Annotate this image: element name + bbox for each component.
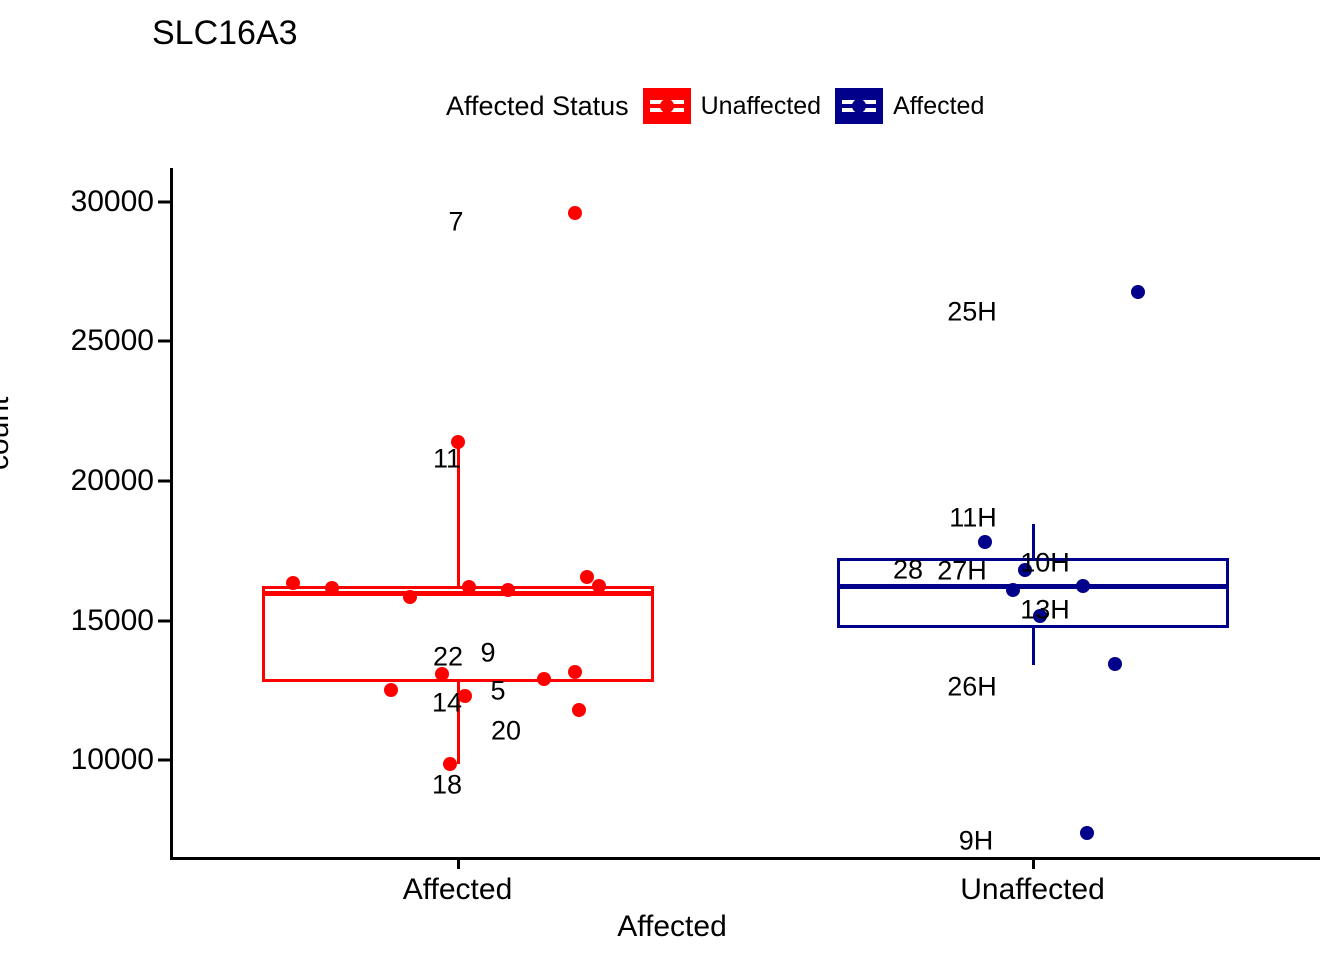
y-axis-title: count [0, 397, 16, 470]
x-tick-mark [457, 857, 460, 869]
y-tick-label: 15000 [71, 604, 154, 638]
data-point-label: 25H [947, 297, 997, 328]
data-point-label: 13H [1020, 595, 1070, 626]
legend-label-unaffected: Unaffected [701, 92, 821, 121]
x-tick-label-affected: Affected [403, 873, 513, 907]
boxplot-affected: 25H11H2827H10H13H26H9H [170, 168, 1320, 858]
data-point-label: 28 [893, 555, 923, 586]
y-tick-label: 30000 [71, 185, 154, 219]
plot-area: 711229145201825H11H2827H10H13H26H9H [170, 168, 1320, 858]
legend-key-affected[interactable]: Affected [835, 88, 984, 124]
data-point-label: 26H [947, 672, 997, 703]
data-point[interactable] [1131, 285, 1145, 299]
x-tick-mark [1032, 857, 1035, 869]
boxplot-glyph-icon [643, 88, 691, 124]
legend-label-affected: Affected [893, 92, 984, 121]
whisker-lower [1032, 628, 1035, 666]
chart-root: SLC16A3 Affected Status Unaffected Affec… [0, 0, 1344, 960]
y-tick-mark [158, 340, 170, 343]
data-point[interactable] [978, 535, 992, 549]
data-point[interactable] [1108, 657, 1122, 671]
y-tick-label: 25000 [71, 324, 154, 358]
legend-title: Affected Status [446, 91, 629, 122]
data-point-label: 9H [959, 826, 994, 857]
x-axis-title: Affected [0, 910, 1344, 944]
y-tick-label: 10000 [71, 743, 154, 777]
x-tick-label-unaffected: Unaffected [960, 873, 1105, 907]
legend: Affected Status Unaffected Affected [446, 88, 984, 124]
y-tick-label: 20000 [71, 464, 154, 498]
y-tick-mark [158, 619, 170, 622]
y-tick-mark [158, 200, 170, 203]
data-point[interactable] [1006, 583, 1020, 597]
page-title: SLC16A3 [152, 14, 298, 53]
y-tick-mark [158, 479, 170, 482]
data-point-label: 10H [1020, 548, 1070, 579]
boxplot-glyph-icon [835, 88, 883, 124]
y-tick-mark [158, 759, 170, 762]
data-point[interactable] [1076, 579, 1090, 593]
data-point-label: 27H [937, 556, 987, 587]
data-point[interactable] [1080, 826, 1094, 840]
legend-key-unaffected[interactable]: Unaffected [643, 88, 821, 124]
data-point-label: 11H [949, 503, 997, 534]
